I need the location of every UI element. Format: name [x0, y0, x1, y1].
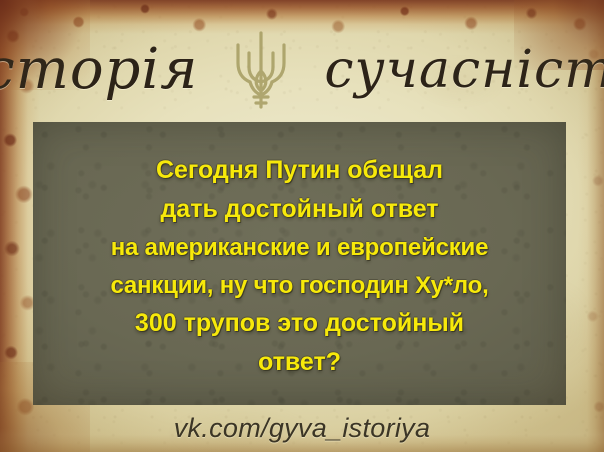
footer-band: vk.com/gyva_istoriya	[0, 405, 604, 452]
quote-line: дать достойный ответ	[160, 191, 438, 228]
quote-panel: Сегодня Путин обещал дать достойный отве…	[33, 122, 566, 405]
header-band: Історія	[0, 18, 604, 122]
quote-line: Сегодня Путин обещал	[156, 152, 443, 189]
ukrainian-trident-tryzub-icon	[232, 29, 290, 111]
quote-line: 300 трупов это достойный	[135, 305, 464, 342]
meme-image: Історія	[0, 0, 604, 452]
quote-line: ответ?	[258, 344, 341, 381]
quote-line: на американские и европейские	[111, 230, 488, 266]
quote-line: санкции, ну что господин Ху*ло,	[110, 268, 488, 304]
source-url: vk.com/gyva_istoriya	[174, 413, 431, 444]
header-word-modernity: сучасність	[324, 44, 604, 96]
header-word-history: Історія	[0, 42, 198, 98]
quote-text-block: Сегодня Путин обещал дать достойный отве…	[33, 122, 566, 405]
